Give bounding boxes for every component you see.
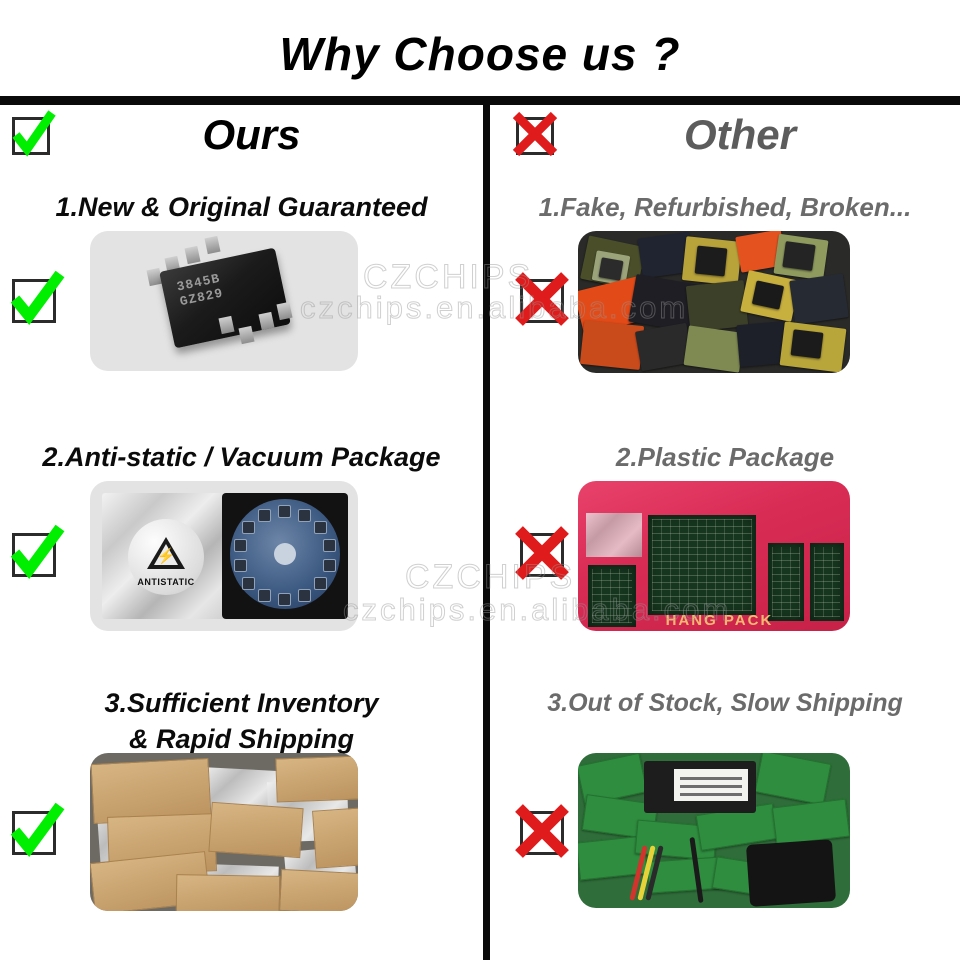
- feature-row-ours-2: 2.Anti-static / Vacuum Package ⚡ ANTISTA…: [0, 433, 483, 683]
- cross-glyph: [514, 803, 570, 859]
- cross-glyph: [514, 525, 570, 581]
- column-other: Other 1.Fake, Refurbished, Broken...: [490, 105, 960, 960]
- column-header-label-other: Other: [490, 111, 960, 159]
- cross-mark-icon: [514, 803, 570, 859]
- antistatic-scene: ⚡ ANTISTATIC: [90, 481, 358, 631]
- check-glyph: [6, 271, 62, 327]
- reel-disc: [230, 499, 340, 609]
- feature-title-ours-3-line1: 3.Sufficient Inventory: [0, 685, 483, 721]
- antistatic-label-disc: ⚡ ANTISTATIC: [128, 519, 204, 595]
- page-title: Why Choose us ?: [0, 26, 960, 82]
- feature-title-other-3: 3.Out of Stock, Slow Shipping: [490, 685, 960, 721]
- photo-stocked-cartons: [90, 753, 358, 911]
- feature-title-other-1: 1.Fake, Refurbished, Broken...: [490, 189, 960, 225]
- column-header-other: Other: [490, 105, 960, 183]
- column-divider: [483, 105, 490, 960]
- column-header-ours: Ours: [0, 105, 483, 183]
- warehouse-scene: [90, 753, 358, 911]
- tape-reel-tray: [222, 493, 348, 619]
- feature-row-other-1: 1.Fake, Refurbished, Broken...: [490, 183, 960, 433]
- check-glyph: [6, 803, 62, 859]
- photo-scrap-green-boards: [578, 753, 850, 908]
- reel-hub: [274, 543, 296, 565]
- antistatic-text: ANTISTATIC: [128, 577, 204, 587]
- comparison-poster: Why Choose us ? Ours 1.New & Original Gu…: [0, 0, 960, 960]
- photo-new-original-chip: 3845B GZ829: [90, 231, 358, 371]
- feature-title-ours-3-line2: & Rapid Shipping: [0, 721, 483, 757]
- photo-plastic-bag-pcb: HANG PACK: [578, 481, 850, 631]
- check-glyph: [6, 525, 62, 581]
- photo-antistatic-vacuum-package: ⚡ ANTISTATIC: [90, 481, 358, 631]
- feature-title-other-2: 2.Plastic Package: [490, 439, 960, 475]
- module-label: [674, 769, 748, 801]
- column-header-label-ours: Ours: [0, 111, 483, 159]
- lightning-bolt-icon: ⚡: [157, 549, 176, 564]
- feature-title-ours-3: 3.Sufficient Inventory & Rapid Shipping: [0, 685, 483, 757]
- black-module: [644, 761, 756, 813]
- feature-row-other-2: 2.Plastic Package HANG PACK: [490, 433, 960, 683]
- scrap-boards-scene: [578, 753, 850, 908]
- feature-row-ours-1: 1.New & Original Guaranteed: [0, 183, 483, 433]
- header-divider: [0, 96, 960, 105]
- chip-scene: 3845B GZ829: [90, 231, 358, 371]
- cross-mark-icon: [514, 271, 570, 327]
- plastic-bag-scene: HANG PACK: [578, 481, 850, 631]
- black-pad: [746, 839, 836, 907]
- scrap-chips-scene: [578, 231, 850, 373]
- cross-mark-icon: [514, 525, 570, 581]
- cross-glyph: [514, 271, 570, 327]
- antistatic-bag: ⚡ ANTISTATIC: [102, 493, 226, 619]
- check-mark-icon: [6, 271, 62, 327]
- check-mark-icon: [6, 525, 62, 581]
- hang-pack-overlay-text: HANG PACK: [666, 612, 774, 629]
- feature-title-ours-2: 2.Anti-static / Vacuum Package: [0, 439, 483, 475]
- feature-row-ours-3: 3.Sufficient Inventory & Rapid Shipping: [0, 683, 483, 960]
- column-ours: Ours 1.New & Original Guaranteed: [0, 105, 483, 960]
- photo-scrap-chips: [578, 231, 850, 373]
- check-mark-icon: [6, 803, 62, 859]
- feature-row-other-3: 3.Out of Stock, Slow Shipping: [490, 683, 960, 960]
- feature-title-ours-1: 1.New & Original Guaranteed: [0, 189, 483, 225]
